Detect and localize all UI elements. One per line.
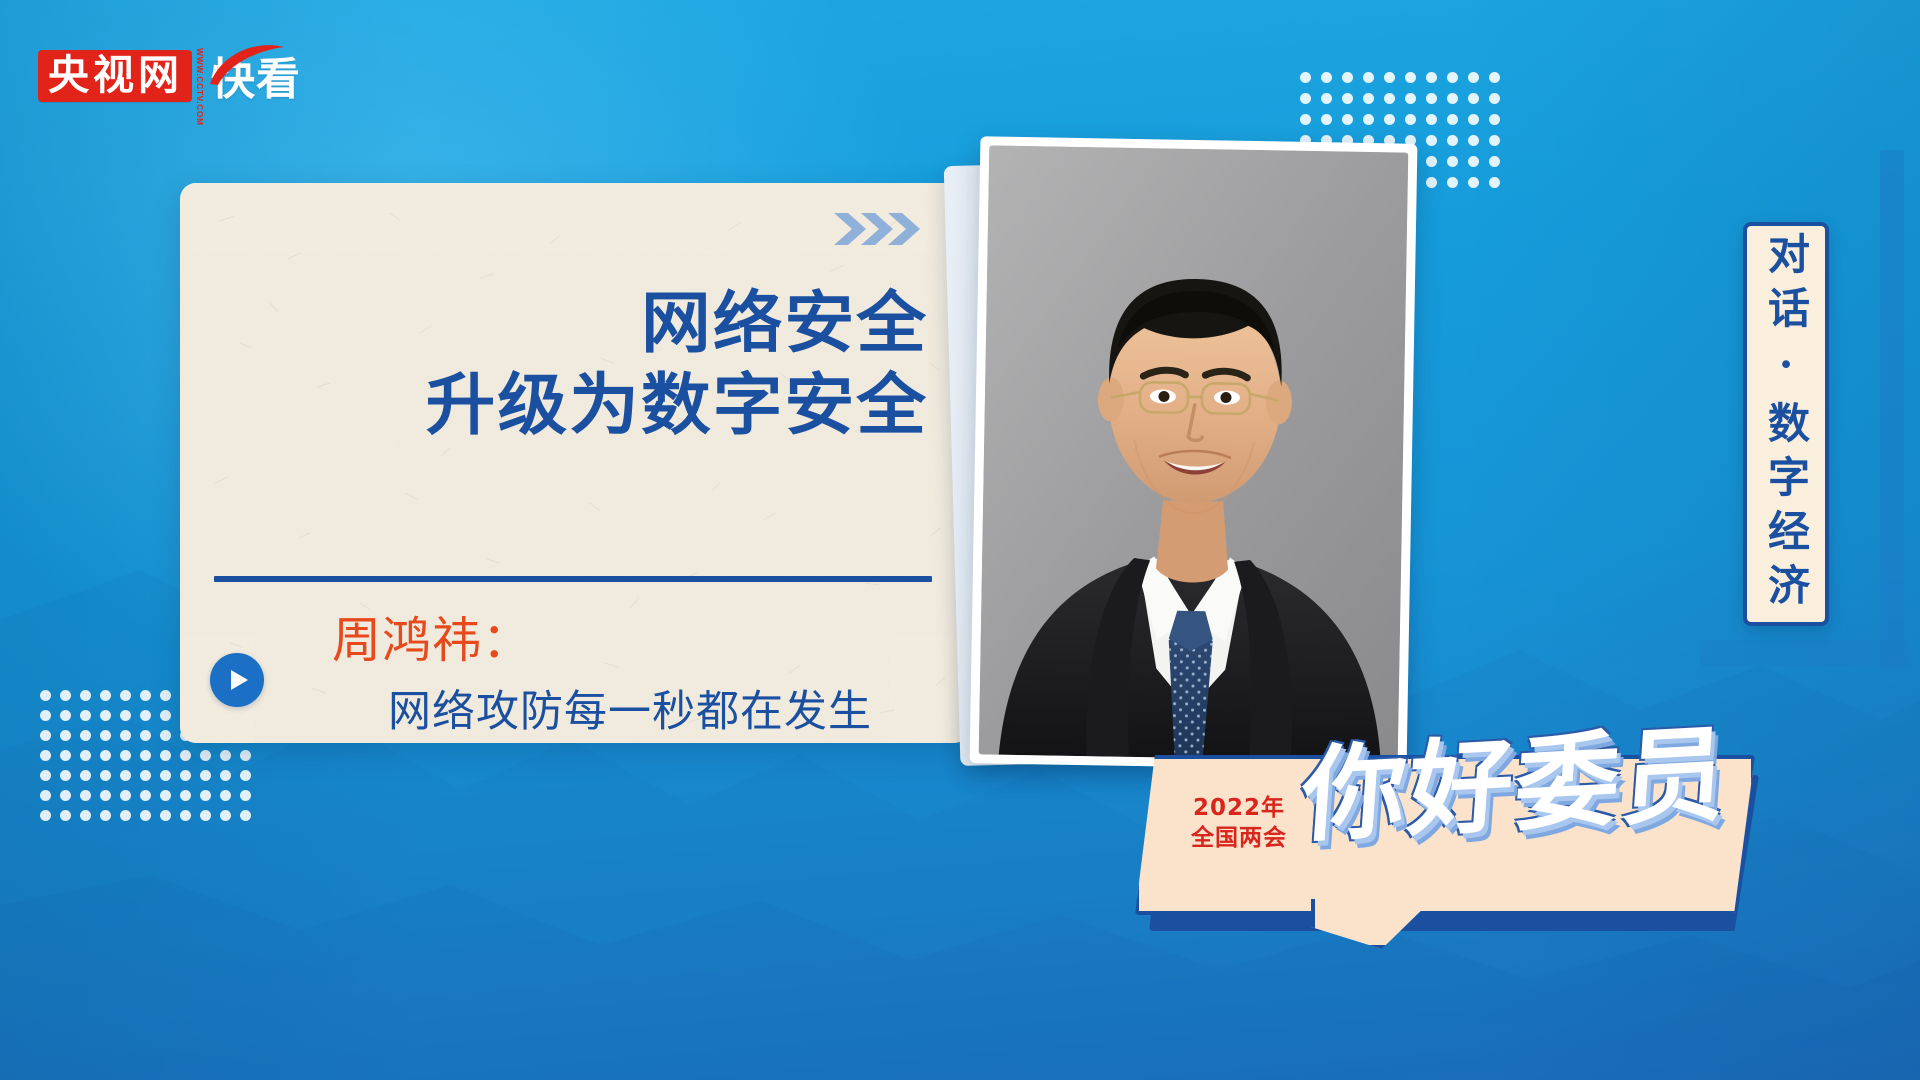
badge-event-label: 2022年 全国两会 [1191, 793, 1287, 854]
badge-year: 2022年 [1191, 793, 1287, 823]
triple-chevron-right-icon [834, 209, 928, 249]
headline-line-1: 网络安全 [180, 283, 928, 365]
quote-text: 网络攻防每一秒都在发生 [388, 677, 872, 739]
main-content-card: 网络安全 升级为数字安全 周鸿祎： 网络攻防每一秒都在发生 [180, 183, 970, 743]
series-label-panel: 对话·数字经济 [1743, 222, 1829, 626]
play-triangle-icon [231, 670, 248, 690]
decor-strip-lower [1700, 640, 1910, 666]
portrait-photo-frame[interactable] [970, 136, 1418, 771]
program-badge: 2022年 全国两会 你好委员 [1135, 755, 1775, 945]
poster-canvas: 央视网 WWW.CCTV.COM 快看 [0, 0, 1920, 1080]
badge-event: 全国两会 [1191, 823, 1287, 853]
badge-slogan: 你好委员 [1298, 722, 1731, 848]
cctv-logo[interactable]: 央视网 WWW.CCTV.COM 快看 [38, 28, 301, 102]
play-button[interactable] [210, 653, 264, 707]
logo-red-box: 央视网 [38, 50, 192, 102]
portrait-photo [979, 145, 1409, 761]
page-title: 网络安全 升级为数字安全 [180, 283, 928, 446]
logo-url-text: WWW.CCTV.COM [195, 48, 205, 100]
speaker-name: 周鸿祎： [332, 601, 532, 672]
series-label-text: 对话·数字经济 [1747, 226, 1825, 622]
headline-line-2: 升级为数字安全 [180, 365, 928, 447]
title-divider [214, 576, 932, 582]
logo-kuaikan-text: 快看 [211, 58, 301, 102]
decor-strip-right [1880, 150, 1904, 670]
